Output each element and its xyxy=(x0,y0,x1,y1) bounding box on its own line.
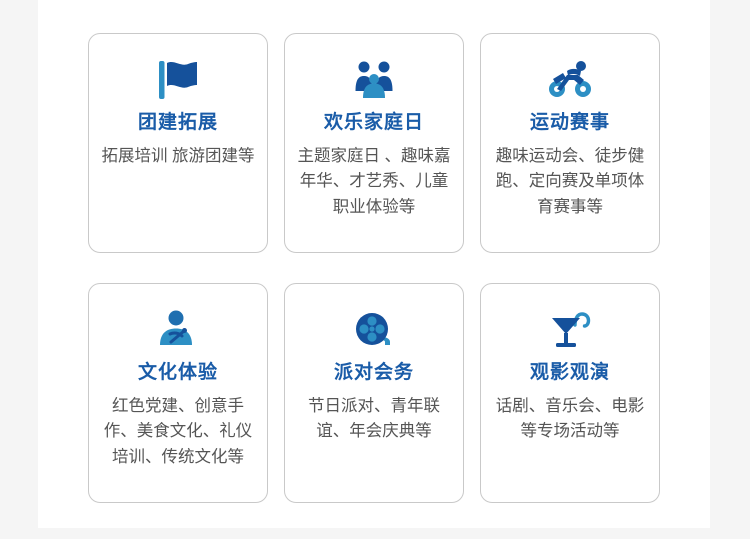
cocktail-icon xyxy=(544,306,596,354)
service-card-show-viewing[interactable]: 观影观演 话剧、音乐会、电影等专场活动等 xyxy=(480,283,660,503)
flag-icon xyxy=(152,56,204,104)
card-description: 趣味运动会、徒步健跑、定向赛及单项体育赛事等 xyxy=(489,144,651,221)
card-title: 运动赛事 xyxy=(530,112,610,135)
card-description: 红色党建、创意手作、美食文化、礼仪培训、传统文化等 xyxy=(97,394,259,471)
card-description: 话剧、音乐会、电影等专场活动等 xyxy=(489,394,651,445)
card-description: 拓展培训 旅游团建等 xyxy=(99,144,256,170)
service-category-grid: 团建拓展 拓展培训 旅游团建等 欢乐家庭日 主题家庭日 、趣味嘉年华、才 xyxy=(88,33,670,503)
service-card-family-day[interactable]: 欢乐家庭日 主题家庭日 、趣味嘉年华、才艺秀、儿童职业体验等 xyxy=(284,33,464,253)
card-title: 观影观演 xyxy=(530,362,610,385)
cyclist-icon xyxy=(544,56,596,104)
card-title: 文化体验 xyxy=(138,362,218,385)
culture-person-icon xyxy=(152,306,204,354)
card-title: 欢乐家庭日 xyxy=(324,112,424,135)
card-description: 主题家庭日 、趣味嘉年华、才艺秀、儿童职业体验等 xyxy=(293,144,455,221)
page-root: 团建拓展 拓展培训 旅游团建等 欢乐家庭日 主题家庭日 、趣味嘉年华、才 xyxy=(0,0,750,539)
card-title: 团建拓展 xyxy=(138,112,218,135)
card-description: 节日派对、青年联谊、年会庆典等 xyxy=(293,394,455,445)
family-icon xyxy=(348,56,400,104)
content-panel: 团建拓展 拓展培训 旅游团建等 欢乐家庭日 主题家庭日 、趣味嘉年华、才 xyxy=(38,0,710,528)
film-reel-icon xyxy=(348,306,400,354)
service-card-culture-experience[interactable]: 文化体验 红色党建、创意手作、美食文化、礼仪培训、传统文化等 xyxy=(88,283,268,503)
card-title: 派对会务 xyxy=(334,362,414,385)
service-card-party-events[interactable]: 派对会务 节日派对、青年联谊、年会庆典等 xyxy=(284,283,464,503)
service-card-sports-events[interactable]: 运动赛事 趣味运动会、徒步健跑、定向赛及单项体育赛事等 xyxy=(480,33,660,253)
service-card-team-building[interactable]: 团建拓展 拓展培训 旅游团建等 xyxy=(88,33,268,253)
